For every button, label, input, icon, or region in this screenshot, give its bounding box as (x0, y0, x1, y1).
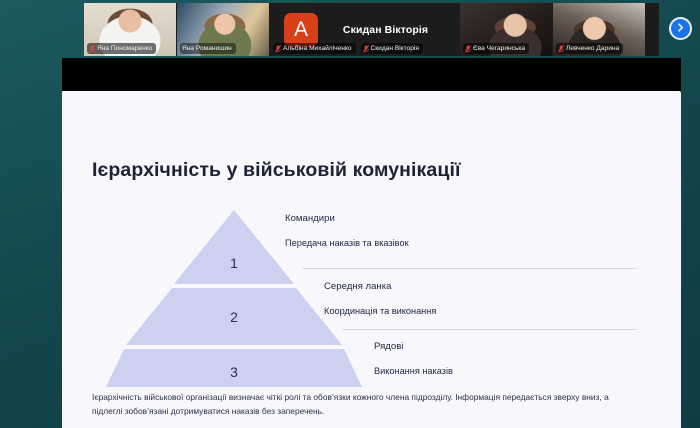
pyramid-tier-1-number: 1 (230, 255, 238, 271)
tier-2-heading: Середня ланка (324, 281, 391, 292)
tier-3-subtext: Виконання наказів (374, 366, 453, 376)
tier-divider-1 (302, 268, 637, 269)
pyramid-tier-2-number: 2 (230, 309, 238, 325)
tier-1-subtext: Передача наказів та вказівок (285, 238, 409, 248)
video-conference-screen: Яна Пономаренко Яна Романишин А Скидан В… (0, 0, 700, 428)
participant-nameplate-4: Єва Чегаринська (463, 43, 529, 54)
active-speaker-tile[interactable]: А Скидан Вікторія Альбіна Михайліченко С… (270, 3, 459, 56)
tier-2-subtext: Координація та виконання (324, 306, 436, 316)
pyramid-diagram: 1 2 3 (62, 206, 362, 391)
participant-name-5: Левченко Дарина (566, 45, 619, 52)
mic-muted-icon (89, 45, 95, 53)
pyramid-tier-3-number: 3 (230, 364, 238, 380)
participant-tile-4[interactable]: Єва Чегаринська (460, 3, 552, 56)
participant-tile-5[interactable]: Левченко Дарина (553, 3, 645, 56)
letterbox-bar (62, 58, 681, 91)
participant-nameplate-0: Яна Пономаренко (87, 43, 156, 54)
tier-1-heading: Командири (285, 213, 335, 224)
participant-tile-1[interactable]: Яна Романишин (177, 3, 269, 56)
participant-name-2: Альбіна Михайліченко (283, 45, 352, 52)
slide-title: Ієрархічність у військовій комунікації (92, 159, 461, 182)
mic-muted-icon (465, 45, 471, 53)
mic-muted-icon (558, 45, 564, 53)
shared-screen[interactable]: Ієрархічність у військовій комунікації 1… (62, 58, 681, 428)
participant-tile-0[interactable]: Яна Пономаренко (84, 3, 176, 56)
chevron-right-icon (675, 20, 686, 38)
mic-muted-icon (363, 45, 369, 53)
participant-nameplate-1: Яна Романишин (180, 43, 236, 54)
participant-nameplate-3: Скидан Вікторія (361, 43, 423, 54)
participant-name-1: Яна Романишин (182, 45, 232, 52)
participant-name-3: Скидан Вікторія (371, 45, 419, 52)
participant-nameplate-5: Левченко Дарина (556, 43, 623, 54)
slide-paragraph: Ієрархічність військової організації виз… (92, 391, 637, 418)
presentation-slide: Ієрархічність у військовій комунікації 1… (62, 91, 681, 428)
mic-muted-icon (275, 45, 281, 53)
participant-name-0: Яна Пономаренко (97, 45, 152, 52)
tier-divider-2 (342, 329, 637, 330)
next-participants-button[interactable] (669, 17, 692, 40)
participant-filmstrip: Яна Пономаренко Яна Романишин А Скидан В… (84, 3, 659, 56)
speaker-nameplates: Альбіна Михайліченко Скидан Вікторія (270, 43, 423, 54)
tier-3-heading: Рядові (374, 341, 403, 352)
participant-nameplate-2: Альбіна Михайліченко (273, 43, 356, 54)
pyramid-tier-1 (174, 210, 294, 284)
participant-name-4: Єва Чегаринська (473, 45, 525, 52)
avatar: А (284, 13, 318, 47)
active-speaker-name: Скидан Вікторія (318, 24, 459, 36)
